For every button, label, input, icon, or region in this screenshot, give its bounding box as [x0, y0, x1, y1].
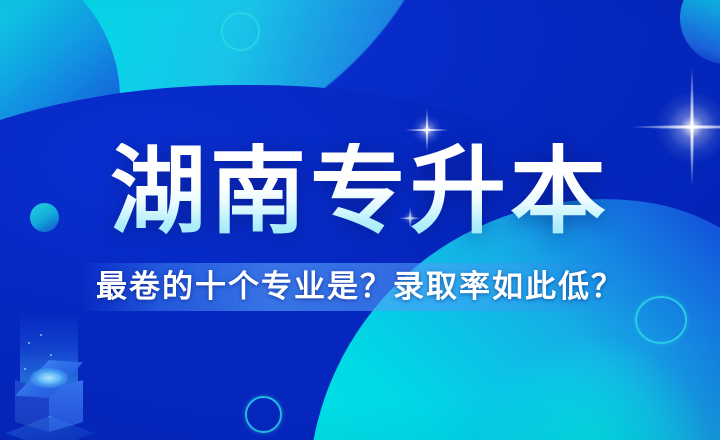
ring-outline-top-icon: [221, 12, 260, 51]
pedestal-glow-ring-inner: [37, 372, 61, 384]
cyan-blob-glow: [460, 340, 720, 440]
promo-poster: 最卷的十个专业是？录取率如此低？ 湖南专升本: [0, 0, 720, 440]
ring-outline-bottom-icon: [245, 396, 282, 433]
isometric-pedestal-graphic: [6, 330, 126, 440]
page-title: 湖南专升本: [0, 143, 720, 239]
subtitle-text: 最卷的十个专业是？录取率如此低？: [0, 268, 720, 306]
